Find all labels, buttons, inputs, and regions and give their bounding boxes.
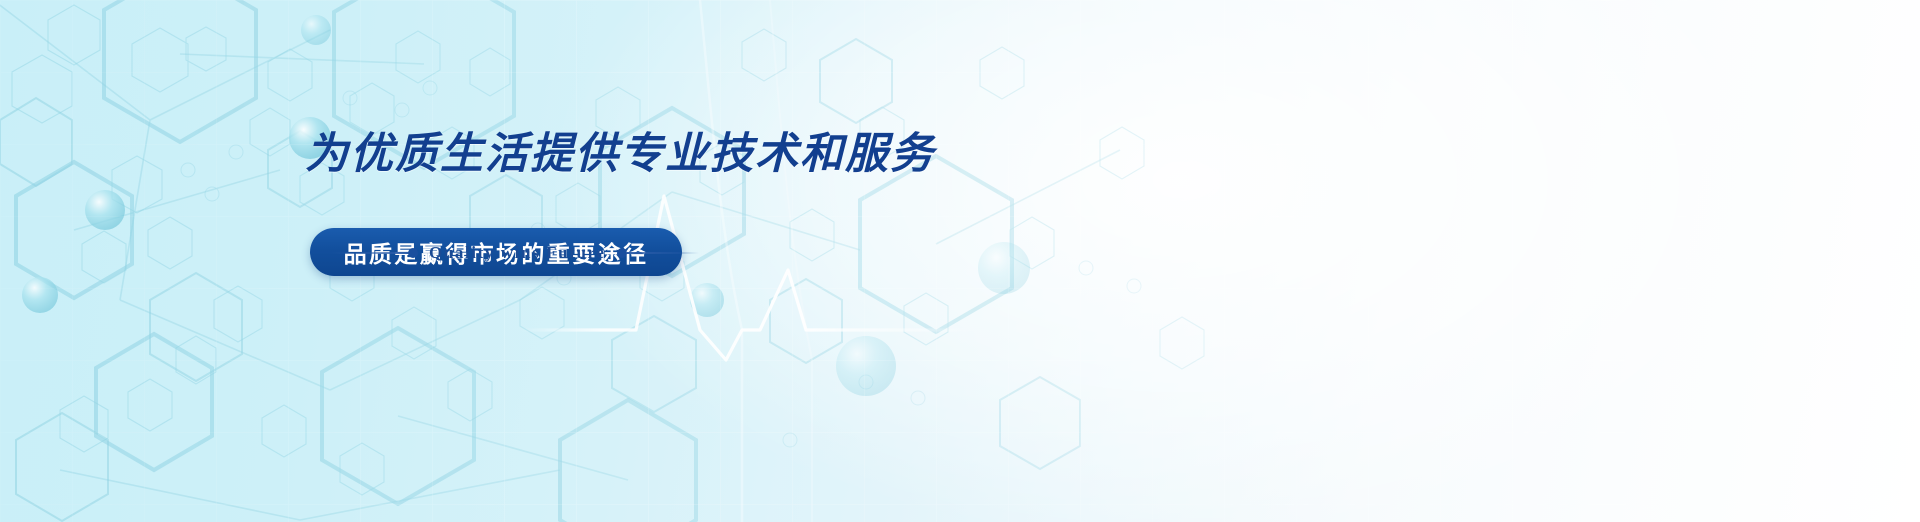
doctor-photo: [860, 0, 1920, 522]
hero-banner: 为优质生活提供专业技术和服务 品质是赢得市场的重要途径 Quality wins…: [0, 0, 1920, 522]
banner-copy: 为优质生活提供专业技术和服务 品质是赢得市场的重要途径 Quality wins…: [0, 0, 900, 522]
divider-line-right: [627, 252, 699, 254]
divider-dot-right: [617, 248, 627, 258]
divider-dot-left: [408, 248, 418, 258]
headline-text: 为优质生活提供专业技术和服务: [305, 128, 935, 180]
divider-line-left: [330, 252, 408, 254]
english-tagline-text: Quality wins Future: [418, 243, 617, 263]
english-tagline-divider: Quality wins Future: [330, 242, 750, 264]
